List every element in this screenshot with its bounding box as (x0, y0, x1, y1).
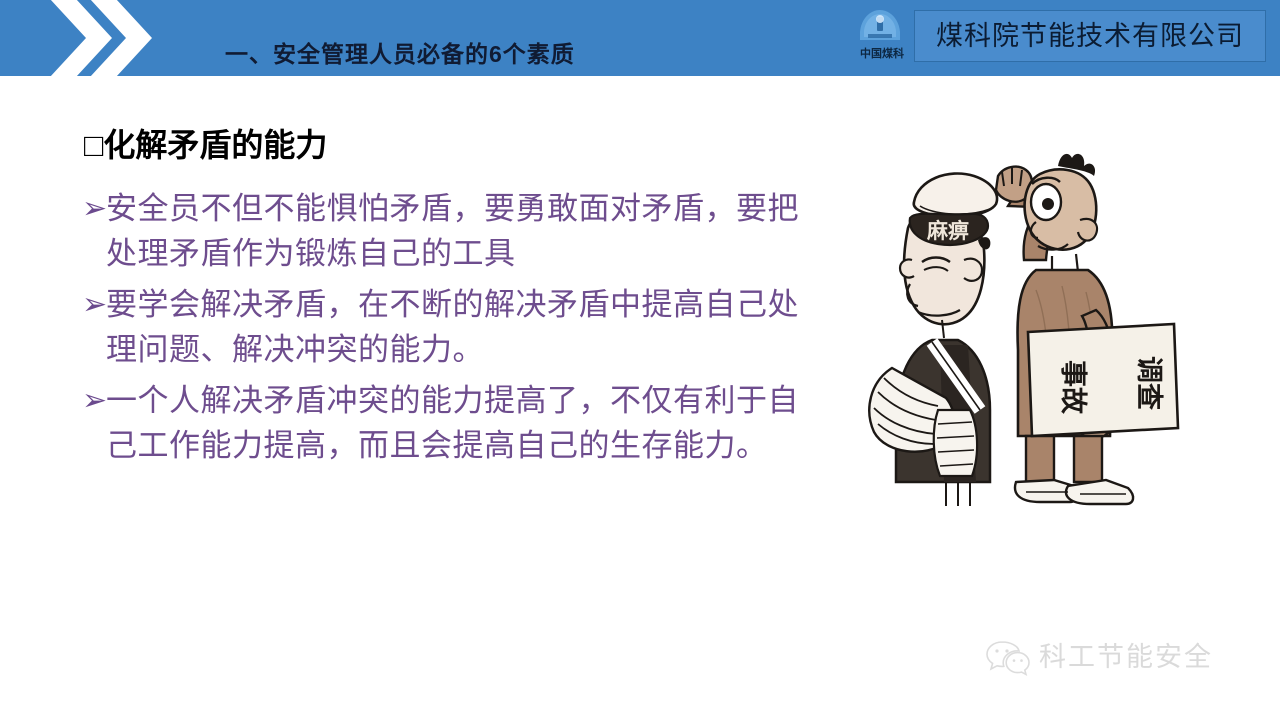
sign-text-2: 调查 (1133, 356, 1164, 410)
company-logo-caption: 中国煤科 (848, 45, 916, 61)
list-item-label: 一个人解决矛盾冲突的能力提高了，不仅有利于自己工作能力提高，而且会提高自己的生存… (106, 378, 802, 468)
company-logo: 中国煤科 (848, 6, 916, 68)
cartoon-right-figure: 事故 调查 (996, 154, 1178, 504)
wechat-icon (985, 638, 1031, 676)
cartoon-left-figure: 麻痹 (869, 174, 997, 506)
watermark-label: 科工节能安全 (1039, 642, 1213, 672)
sign-text-1: 事故 (1057, 360, 1088, 414)
company-name-text: 煤科院节能技术有限公司 (936, 21, 1244, 51)
wechat-watermark: 科工节能安全 (985, 638, 1213, 676)
page-title: 一、安全管理人员必备的6个素质 (225, 40, 575, 68)
list-item: ➢ 要学会解决矛盾，在不断的解决矛盾中提高自己处理问题、解决冲突的能力。 (82, 282, 802, 372)
arrow-bullet-icon: ➢ (82, 378, 106, 423)
list-item: ➢ 安全员不但不能惧怕矛盾，要勇敢面对矛盾，要把处理矛盾作为锻炼自己的工具 (82, 186, 802, 276)
arrow-bullet-icon: ➢ (82, 282, 106, 327)
list-item-label: 安全员不但不能惧怕矛盾，要勇敢面对矛盾，要把处理矛盾作为锻炼自己的工具 (106, 186, 802, 276)
investigation-sign: 事故 调查 (1028, 324, 1178, 436)
bullet-list: ➢ 安全员不但不能惧怕矛盾，要勇敢面对矛盾，要把处理矛盾作为锻炼自己的工具 ➢ … (82, 186, 802, 474)
slide-body: □化解矛盾的能力 ➢ 安全员不但不能惧怕矛盾，要勇敢面对矛盾，要把处理矛盾作为锻… (0, 76, 840, 720)
list-item: ➢ 一个人解决矛盾冲突的能力提高了，不仅有利于自己工作能力提高，而且会提高自己的… (82, 378, 802, 468)
company-name-box: 煤科院节能技术有限公司 (914, 10, 1266, 62)
section-heading: □化解矛盾的能力 (84, 126, 327, 164)
header-band: 一、安全管理人员必备的6个素质 中国煤科 煤科院节能技术有限公司 (0, 0, 1280, 76)
double-chevron-right-icon (18, 0, 158, 76)
china-coal-science-emblem-icon (856, 8, 904, 44)
accident-investigation-cartoon: 麻痹 (840, 110, 1200, 510)
arrow-bullet-icon: ➢ (82, 186, 106, 231)
list-item-label: 要学会解决矛盾，在不断的解决矛盾中提高自己处理问题、解决冲突的能力。 (106, 282, 802, 372)
head-label-text: 麻痹 (926, 219, 969, 243)
slide-canvas: 一、安全管理人员必备的6个素质 中国煤科 煤科院节能技术有限公司 □化解矛盾的能… (0, 0, 1280, 720)
